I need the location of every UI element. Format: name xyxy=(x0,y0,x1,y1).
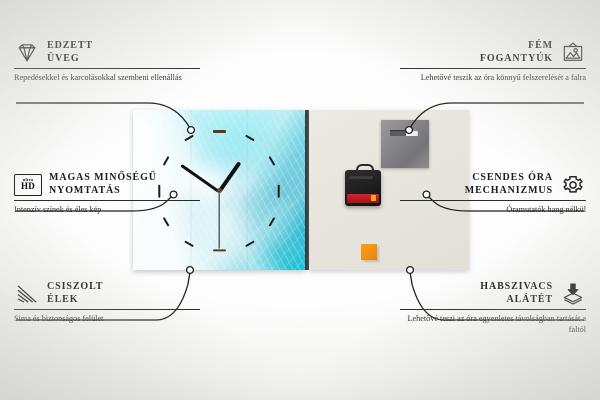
clock-tick xyxy=(277,184,279,197)
feature-foam-spacer: HABSZIVACS ALÁTÉT Lehetővé teszi az óra … xyxy=(400,281,586,335)
feature-metal-handles: FÉM FOGANTYÚK Lehetővé teszik az óra kön… xyxy=(400,40,586,83)
divider xyxy=(14,68,200,69)
divider xyxy=(400,309,586,310)
divider xyxy=(14,200,200,201)
feature-title: HABSZIVACS ALÁTÉT xyxy=(480,281,553,306)
battery-terminal xyxy=(371,195,376,201)
divider xyxy=(400,68,586,69)
divider xyxy=(14,309,200,310)
divider xyxy=(400,200,586,201)
clock-second-hand xyxy=(218,191,219,249)
gear-icon xyxy=(560,173,586,197)
mechanism-slot xyxy=(349,176,373,179)
feature-description: Sima és biztonságos felület xyxy=(14,313,200,324)
feature-description: Óramutatók hang nélkül xyxy=(400,204,586,215)
clock-mechanism xyxy=(345,170,381,206)
feature-polished-edges: CSISZOLT ÉLEK Sima és biztonságos felüle… xyxy=(14,281,200,324)
feature-description: Lehetővé teszi az óra egyenletes távolsá… xyxy=(400,313,586,335)
bevel-lines-icon xyxy=(14,282,40,306)
feature-silent-mechanism: CSENDES ÓRA MECHANIZMUS Óramutatók hang … xyxy=(400,172,586,215)
clock-tick xyxy=(213,249,226,251)
feature-description: Intenzív színek és éles kép xyxy=(14,204,200,215)
ultra-hd-badge-icon: ultra HD xyxy=(14,174,42,196)
infographic-canvas: EDZETT ÜVEG Repedésekkel és karcolásokka… xyxy=(0,0,600,400)
diamond-icon xyxy=(14,41,40,65)
battery xyxy=(347,194,379,203)
hanger-slot xyxy=(390,130,418,136)
feature-title: CSISZOLT ÉLEK xyxy=(47,281,103,306)
metal-hanger-plate xyxy=(381,120,429,168)
arrow-onto-pad-icon xyxy=(560,282,586,306)
feature-title: EDZETT ÜVEG xyxy=(47,40,93,65)
feature-title: CSENDES ÓRA MECHANIZMUS xyxy=(465,172,553,197)
feature-high-quality-print: ultra HD MAGAS MINŐSÉGŰ NYOMTATÁS Intenz… xyxy=(14,172,200,215)
feature-tempered-glass: EDZETT ÜVEG Repedésekkel és karcolásokka… xyxy=(14,40,200,83)
feature-title: FÉM FOGANTYÚK xyxy=(480,40,553,65)
feature-description: Repedésekkel és karcolásokkal szembeni e… xyxy=(14,72,200,83)
foam-pad xyxy=(361,244,377,260)
feature-description: Lehetővé teszik az óra könnyű felszerelé… xyxy=(400,72,586,83)
feature-title: MAGAS MINŐSÉGŰ NYOMTATÁS xyxy=(49,172,157,197)
picture-frame-hanger-icon xyxy=(560,41,586,65)
mechanism-hanging-loop xyxy=(356,164,374,175)
clock-center-cap xyxy=(217,188,222,193)
